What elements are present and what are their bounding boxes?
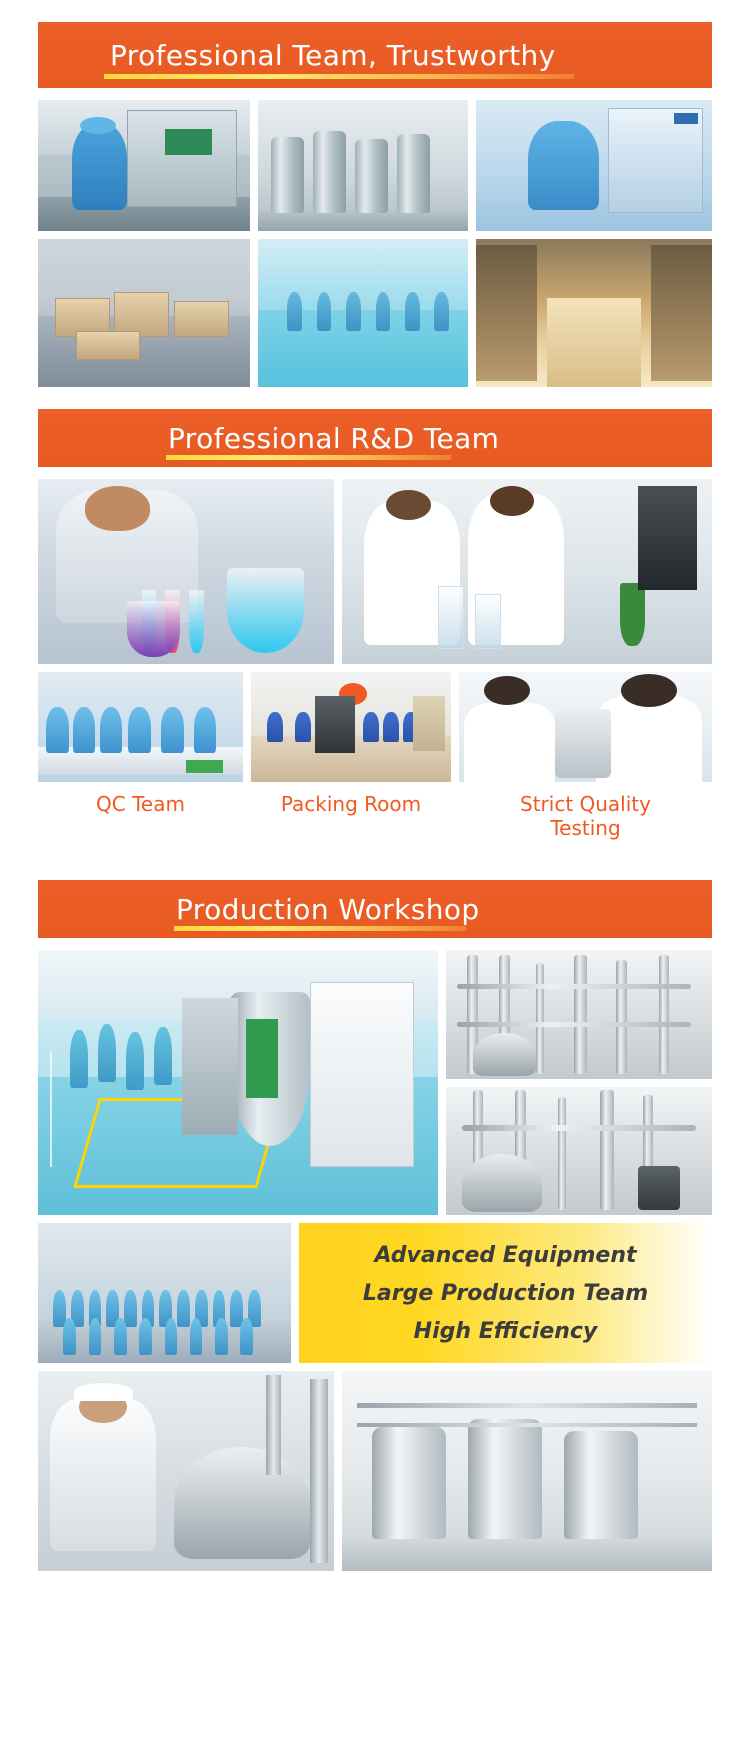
image-operator-with-mixing-machine: [38, 100, 250, 231]
image-packing-room-conveyor: [251, 672, 451, 782]
image-grid-rd-row-1: [38, 479, 712, 664]
highlight-line-large-production-team: Large Production Team: [363, 1281, 648, 1306]
image-warehouse-aisle-storage: [476, 239, 712, 387]
product-detail-page: Professional Team, Trustworthy: [0, 0, 750, 1749]
image-two-scientists-at-lab-bench: [342, 479, 712, 664]
image-large-production-workshop: [38, 950, 438, 1215]
section-banner-production-workshop: Production Workshop: [38, 880, 712, 938]
banner-underline-accent: [166, 455, 451, 460]
workshop-right-stack: [446, 950, 712, 1215]
image-grid-row-2: [38, 239, 712, 387]
caption-strict-quality-testing: Strict Quality Testing: [459, 792, 712, 840]
section-banner-professional-rd-team: Professional R&D Team: [38, 409, 712, 467]
image-grid-workshop-row-1: [38, 950, 712, 1215]
image-worker-operating-separator: [38, 1371, 334, 1571]
image-stainless-steel-piping-system: [446, 950, 712, 1079]
image-stainless-steel-tanks-workshop: [258, 100, 468, 231]
banner-underline-accent: [174, 926, 466, 931]
highlight-line-high-efficiency: High Efficiency: [414, 1319, 598, 1344]
image-researcher-with-pipette-and-flasks: [38, 479, 334, 664]
image-grid-workshop-row-3: [38, 1371, 712, 1571]
image-microscope-quality-testing: [459, 672, 712, 782]
image-technician-testing-equipment: [476, 100, 712, 231]
highlight-panel-advantages: Advanced Equipment Large Production Team…: [299, 1223, 712, 1363]
image-separator-and-pipes: [446, 1087, 712, 1215]
section-banner-professional-team: Professional Team, Trustworthy: [38, 22, 712, 88]
caption-packing-room: Packing Room: [251, 792, 451, 840]
highlight-line-advanced-equipment: Advanced Equipment: [374, 1243, 636, 1268]
image-mixing-tanks-room: [342, 1371, 712, 1571]
image-staff-group-photo-cleanroom: [38, 1223, 291, 1363]
banner-title: Professional Team, Trustworthy: [110, 39, 556, 72]
image-carton-warehouse-pallets: [38, 239, 250, 387]
image-grid-row-1: [38, 100, 712, 231]
image-cleanroom-production-line: [258, 239, 468, 387]
banner-underline-accent: [104, 74, 574, 79]
rd-image-captions: QC Team Packing Room Strict Quality Test…: [38, 792, 712, 840]
image-grid-rd-row-2: [38, 672, 712, 782]
image-grid-workshop-row-2: Advanced Equipment Large Production Team…: [38, 1223, 712, 1363]
banner-title: Professional R&D Team: [168, 422, 499, 455]
image-qc-inspection-line: [38, 672, 243, 782]
banner-title: Production Workshop: [176, 893, 480, 926]
caption-qc-team: QC Team: [38, 792, 243, 840]
